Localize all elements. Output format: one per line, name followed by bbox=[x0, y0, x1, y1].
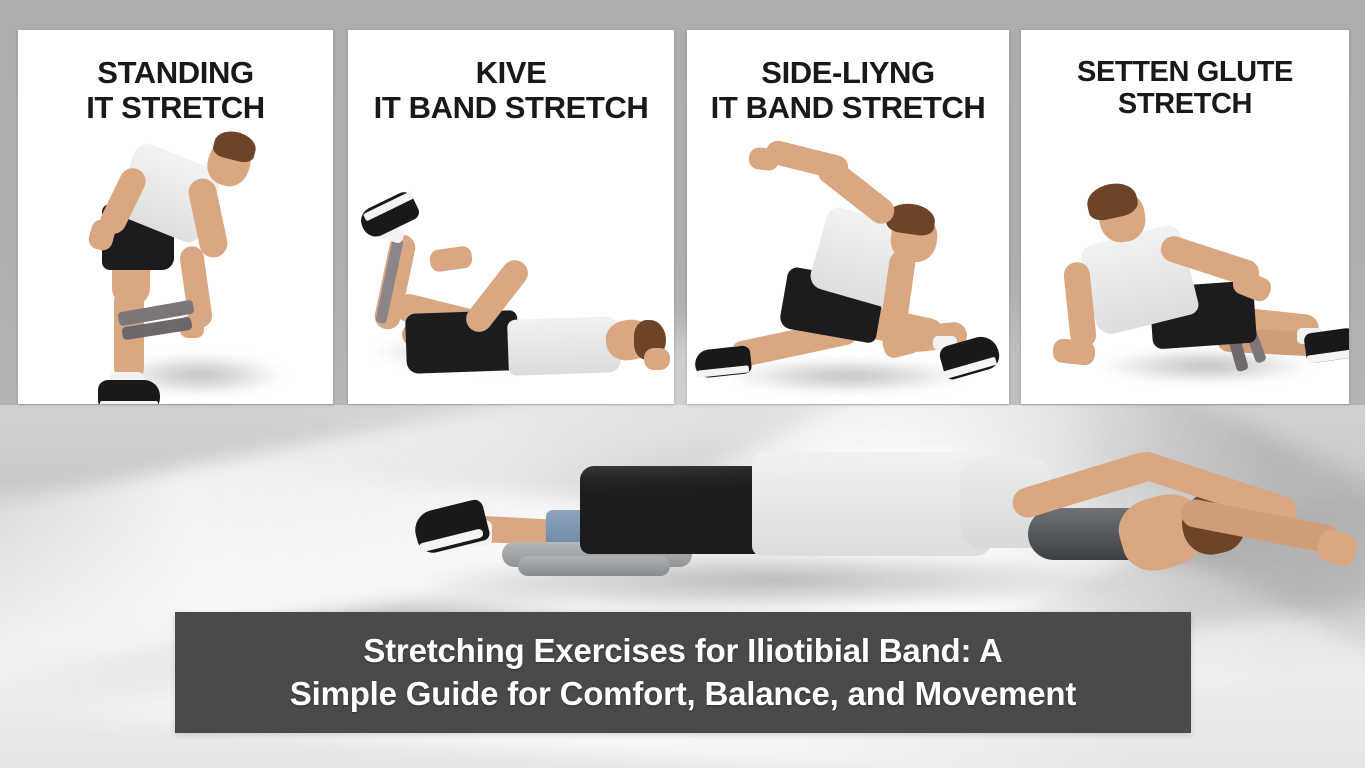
exercise-card-kive-it-band-stretch[interactable]: KIVE IT BAND STRETCH bbox=[348, 30, 674, 404]
hero-hand bbox=[1314, 527, 1359, 568]
exercise-card-standing-it-stretch[interactable]: STANDING IT STRETCH bbox=[18, 30, 333, 404]
fig1-shoe-sole bbox=[100, 401, 158, 404]
screenshot-root: STANDING IT STRETCH bbox=[0, 0, 1365, 768]
card-title-4: SETTEN GLUTE STRETCH bbox=[1021, 56, 1349, 121]
fig3-overhead-hand bbox=[748, 146, 780, 171]
fig2-floor-arm bbox=[644, 348, 670, 370]
hero-tank-top bbox=[752, 452, 992, 556]
exercise-card-setten-glute-stretch[interactable]: SETTEN GLUTE STRETCH bbox=[1021, 30, 1349, 404]
fig4-support-hand bbox=[1052, 338, 1096, 366]
figure-side-lunge-stretch bbox=[687, 158, 1009, 398]
exercise-card-band: STANDING IT STRETCH bbox=[0, 0, 1365, 405]
exercise-card-side-lying-it-band-stretch[interactable]: SIDE-LIYNG IT BAND STRETCH bbox=[687, 30, 1009, 404]
fig2-reaching-hand bbox=[429, 245, 474, 273]
hero-shorts bbox=[580, 466, 770, 554]
caption-banner: Stretching Exercises for Iliotibial Band… bbox=[175, 612, 1191, 733]
figure-setten-glute-stretch bbox=[1021, 158, 1349, 398]
card-title-3: SIDE-LIYNG IT BAND STRETCH bbox=[687, 56, 1009, 125]
caption-text: Stretching Exercises for Iliotibial Band… bbox=[290, 630, 1076, 716]
hero-foam-pad bbox=[518, 556, 670, 576]
card-title-2: KIVE IT BAND STRETCH bbox=[348, 56, 674, 125]
fig2-tank-top bbox=[507, 316, 621, 376]
fig3-shadow bbox=[727, 358, 967, 394]
fig2-shorts bbox=[405, 310, 519, 374]
figure-standing-it-stretch bbox=[18, 158, 333, 398]
card-title-1: STANDING IT STRETCH bbox=[18, 56, 333, 125]
figure-kive-it-band-stretch bbox=[348, 158, 674, 398]
